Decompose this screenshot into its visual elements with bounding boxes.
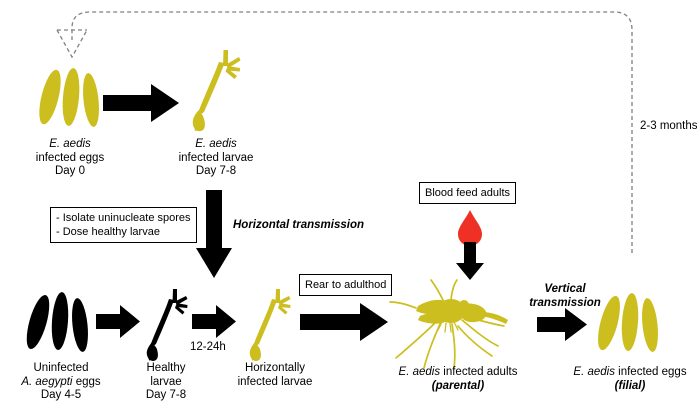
infected-eggs-top-species: E. aedis	[14, 138, 126, 152]
horizontally-infected-larva-icon	[243, 285, 295, 365]
infected-eggs-filial-icon	[592, 288, 668, 360]
blood-feed-box: Blood feed adults	[419, 182, 516, 204]
infected-eggs-filial-species: E. aedis	[573, 366, 615, 378]
infected-adults-species: E. aedis	[399, 366, 441, 378]
blood-drop-and-arrow-icon	[450, 208, 494, 280]
uninfected-eggs-species: A. aegypti	[21, 376, 72, 388]
infected-larvae-top-species: E. aedis	[160, 138, 272, 152]
infected-eggs-filial-line2: (filial)	[552, 380, 700, 394]
infected-adults-line1-tail: infected adults	[440, 366, 517, 378]
infected-larvae-top-line2: infected larvae	[160, 152, 272, 166]
infected-eggs-filial-line1-tail: infected eggs	[615, 366, 687, 378]
infected-eggs-filial-line1: E. aedis infected eggs	[552, 366, 700, 380]
horizontal-transmission-label: Horizontal transmission	[233, 219, 364, 233]
uninfected-eggs-line2-tail: eggs	[73, 376, 101, 388]
infected-eggs-top-line2: infected eggs	[14, 152, 126, 166]
uninfected-eggs-line3: Day 4-5	[2, 389, 120, 403]
healthy-larvae-caption: Healthy larvae Day 7-8	[113, 362, 219, 403]
uninfected-eggs-line2: A. aegypti eggs	[2, 376, 120, 390]
infected-larvae-top-line3: Day 7-8	[160, 165, 272, 179]
healthy-larvae-line2: larvae	[113, 376, 219, 390]
rear-to-adulthood-box: Rear to adulthod	[299, 274, 392, 296]
arrow-dose-to-infected-larvae	[192, 305, 238, 339]
protocol-box-line1: - Isolate uninucleate spores	[56, 211, 191, 225]
arrow-eggs-to-larvae	[103, 84, 183, 124]
protocol-box: - Isolate uninucleate spores - Dose heal…	[50, 207, 197, 243]
arrow-rear-to-adulthood	[300, 303, 390, 341]
cycle-duration-label: 2-3 months	[640, 120, 698, 132]
figure-canvas: 2-3 months E. aedis infected eggs Day 0 …	[0, 0, 700, 406]
infected-eggs-filial-caption: E. aedis infected eggs (filial)	[552, 366, 700, 393]
infected-adults-line2: (parental)	[378, 380, 538, 394]
healthy-larvae-line3: Day 7-8	[113, 389, 219, 403]
infected-larva-top-icon	[183, 44, 245, 136]
arrow-eggs-to-healthy-larvae	[96, 305, 142, 339]
arrow-horizontal-transmission	[196, 190, 242, 280]
infected-adults-caption: E. aedis infected adults (parental)	[378, 366, 538, 393]
horizontally-infected-larvae-caption: Horizontally infected larvae	[215, 362, 335, 389]
protocol-box-line2: - Dose healthy larvae	[56, 225, 191, 239]
horizontally-infected-larvae-line1: Horizontally	[215, 362, 335, 376]
uninfected-eggs-caption: Uninfected A. aegypti eggs Day 4-5	[2, 362, 120, 403]
incubation-time-label: 12-24h	[190, 341, 226, 353]
infected-adults-line1: E. aedis infected adults	[378, 366, 538, 380]
uninfected-eggs-icon	[22, 288, 98, 358]
healthy-larvae-line1: Healthy	[113, 362, 219, 376]
infected-adult-mosquito-icon	[388, 278, 518, 370]
infected-eggs-top-icon	[34, 64, 106, 134]
horizontally-infected-larvae-line2: infected larvae	[215, 376, 335, 390]
infected-eggs-top-line3: Day 0	[14, 165, 126, 179]
arrow-vertical-transmission	[537, 308, 589, 342]
uninfected-eggs-line1: Uninfected	[2, 362, 120, 376]
infected-larvae-top-caption: E. aedis infected larvae Day 7-8	[160, 138, 272, 179]
infected-eggs-top-caption: E. aedis infected eggs Day 0	[14, 138, 126, 179]
healthy-larva-icon	[140, 285, 192, 365]
